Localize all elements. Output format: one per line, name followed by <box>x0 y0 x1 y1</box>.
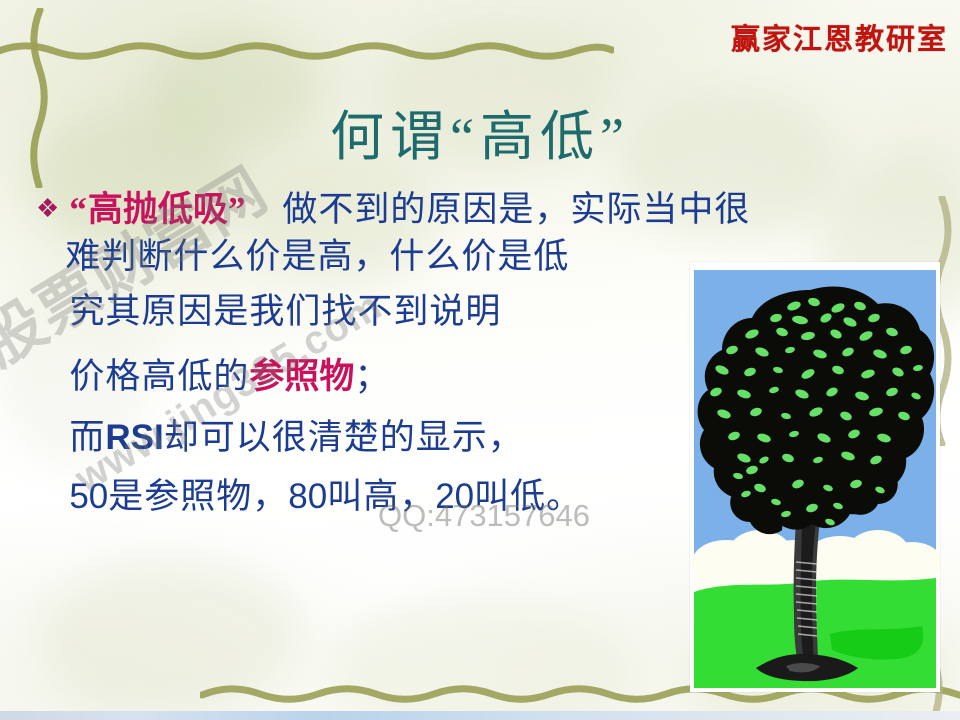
brand-title: 赢家江恩教研室 <box>731 16 948 58</box>
line4-prefix: 价格高低的 <box>69 357 249 396</box>
page-title: 何谓“高低” <box>0 92 960 171</box>
highlight-canzhaowu: 参照物 <box>249 357 354 396</box>
background-blotch <box>40 560 300 710</box>
bamboo-line-horizontal-top <box>0 36 614 62</box>
tree-clipart-svg <box>690 262 940 692</box>
diamond-bullet-icon: ❖ <box>36 188 59 230</box>
line6-seg6: 叫低。 <box>474 477 582 516</box>
line6-seg4: 叫高， <box>327 477 435 516</box>
line5-suffix: 却可以很清楚的显示， <box>164 418 524 457</box>
close-quote: ” <box>228 190 247 229</box>
presentation-slide: 赢家江恩教研室 何谓“高低” ❖ “高抛低吸” 做不到的原因是，实际当中很 难判… <box>0 0 960 720</box>
highlight-gaopaodixi: 高抛低吸 <box>88 190 228 229</box>
value-80: 80 <box>288 477 327 516</box>
bottom-accent-strip <box>0 711 960 720</box>
text-line: “高抛低吸” 做不到的原因是，实际当中很 <box>69 186 942 233</box>
line2-text: 难判断什么价是高，什么价是低 <box>65 237 569 276</box>
tree-illustration <box>690 262 940 692</box>
value-20: 20 <box>435 477 474 516</box>
line3-text: 究其原因是我们找不到说明 <box>69 292 501 331</box>
value-50: 50 <box>69 477 108 516</box>
open-quote: “ <box>69 190 88 229</box>
term-rsi: RSI <box>105 418 163 457</box>
line1-rest: 做不到的原因是，实际当中很 <box>246 190 750 229</box>
line6-seg2: 是参照物， <box>108 477 288 516</box>
line5-prefix: 而 <box>69 418 105 457</box>
background-blotch <box>330 600 630 720</box>
line4-suffix: ； <box>354 357 390 396</box>
